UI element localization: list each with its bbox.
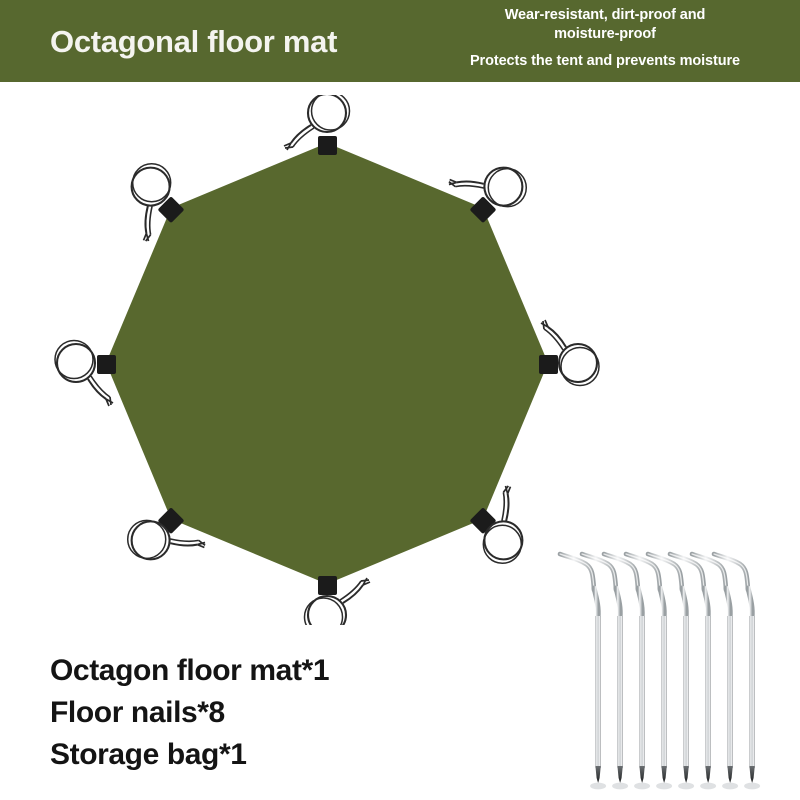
contents-item-nails: Floor nails*8 xyxy=(50,692,480,734)
header-subtitle-line1: Wear-resistant, dirt-proof and xyxy=(410,6,800,25)
tent-stake xyxy=(648,554,694,789)
stake-group xyxy=(560,554,760,789)
tent-stake xyxy=(582,554,628,789)
header-banner: Octagonal floor mat Wear-resistant, dirt… xyxy=(0,0,800,82)
tent-stake xyxy=(626,554,672,789)
tent-stakes-illustration xyxy=(550,548,775,793)
tent-stake xyxy=(670,554,716,789)
floor-mat-illustration xyxy=(35,95,625,625)
contents-item-bag: Storage bag*1 xyxy=(50,734,480,776)
header-subtitle-line2: moisture-proof xyxy=(410,25,800,44)
page-title: Octagonal floor mat xyxy=(50,22,410,62)
tent-stake xyxy=(604,554,650,789)
header-tagline: Protects the tent and prevents moisture xyxy=(410,52,800,70)
package-contents-list: Octagon floor mat*1 Floor nails*8 Storag… xyxy=(50,650,480,776)
tent-stake xyxy=(714,554,760,789)
tent-stake xyxy=(692,554,738,789)
header-tagline-group: Wear-resistant, dirt-proof and moisture-… xyxy=(410,6,800,70)
tent-stake xyxy=(560,554,606,789)
contents-item-mat: Octagon floor mat*1 xyxy=(50,650,480,692)
